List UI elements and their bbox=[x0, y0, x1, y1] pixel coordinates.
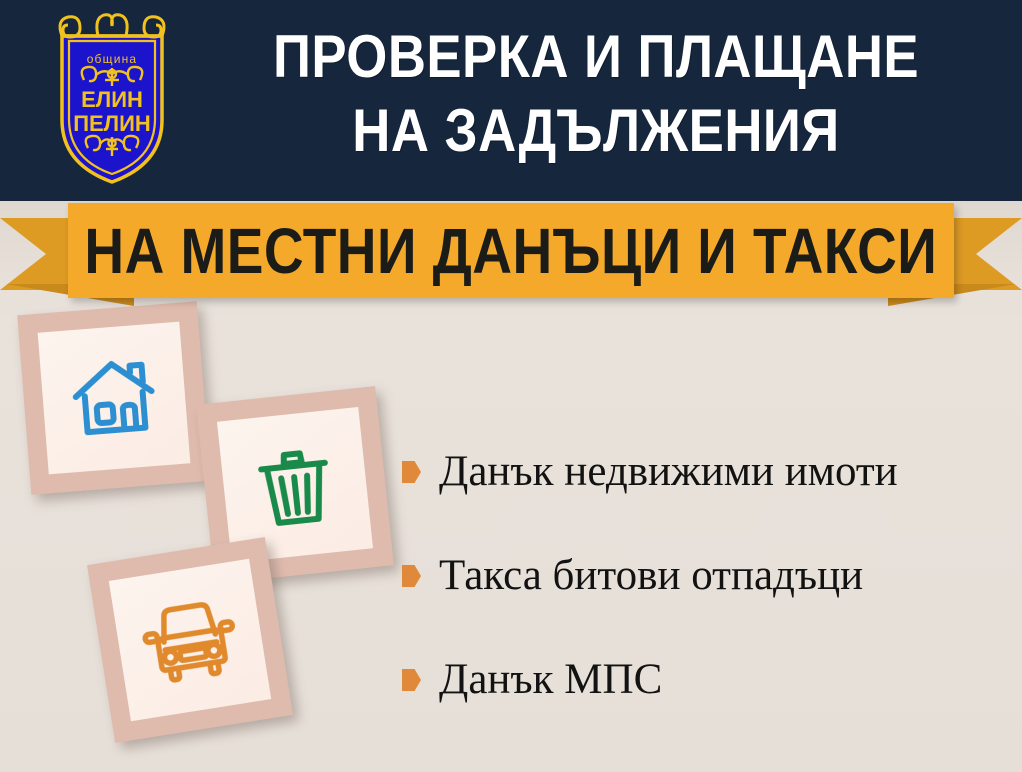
poster-canvas: община ЕЛИН ПЕЛИН bbox=[0, 0, 1022, 772]
house-icon bbox=[62, 346, 165, 449]
ribbon-band: НА МЕСТНИ ДАНЪЦИ И ТАКСИ bbox=[68, 203, 954, 298]
header-bar: община ЕЛИН ПЕЛИН bbox=[0, 0, 1022, 201]
stamp-paper bbox=[109, 559, 271, 721]
list-item[interactable]: Данък МПС bbox=[402, 628, 1012, 732]
arrow-pentagon-bullet-icon bbox=[402, 461, 421, 483]
poster-title: ПРОВЕРКА И ПЛАЩАНЕ НА ЗАДЪЛЖЕНИЯ bbox=[186, 20, 1006, 168]
ribbon-label: НА МЕСТНИ ДАНЪЦИ И ТАКСИ bbox=[85, 219, 938, 283]
municipality-logo: община ЕЛИН ПЕЛИН bbox=[42, 8, 182, 186]
logo-text-obshtina: община bbox=[87, 52, 138, 66]
stamp-card-group bbox=[0, 290, 420, 772]
stamp-card-real-estate bbox=[17, 301, 211, 495]
list-item[interactable]: Данък недвижими имоти bbox=[402, 420, 1012, 524]
tax-type-list: Данък недвижими имоти Такса битови отпад… bbox=[402, 420, 1012, 732]
list-item-label: Данък недвижими имоти bbox=[439, 448, 898, 496]
trash-can-icon bbox=[244, 434, 345, 535]
stamp-paper bbox=[38, 322, 191, 475]
coat-of-arms-shield-icon: община ЕЛИН ПЕЛИН bbox=[42, 8, 182, 186]
logo-text-pelin: ПЕЛИН bbox=[73, 111, 151, 136]
arrow-pentagon-bullet-icon bbox=[402, 565, 421, 587]
logo-text-elin: ЕЛИН bbox=[81, 87, 143, 112]
car-front-icon bbox=[133, 587, 246, 694]
title-line-1: ПРОВЕРКА И ПЛАЩАНЕ bbox=[235, 20, 957, 94]
arrow-pentagon-bullet-icon bbox=[402, 669, 421, 691]
stamp-paper bbox=[217, 407, 373, 563]
list-item-label: Такса битови отпадъци bbox=[439, 552, 863, 600]
title-line-2: НА ЗАДЪЛЖЕНИЯ bbox=[235, 94, 957, 168]
stamp-card-vehicle bbox=[87, 537, 293, 743]
subtitle-ribbon: НА МЕСТНИ ДАНЪЦИ И ТАКСИ bbox=[0, 196, 1022, 312]
list-item-label: Данък МПС bbox=[439, 656, 662, 704]
list-item[interactable]: Такса битови отпадъци bbox=[402, 524, 1012, 628]
